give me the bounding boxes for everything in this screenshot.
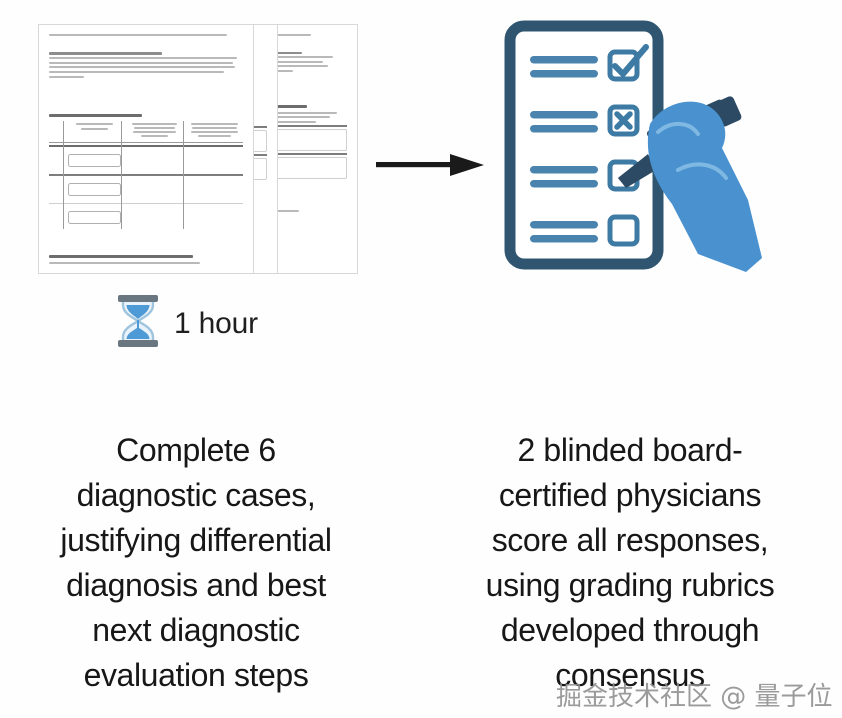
caption-line: Complete 6	[6, 428, 386, 473]
right-step-caption: 2 blinded board- certified physicians sc…	[424, 428, 836, 698]
scoring-clipboard	[500, 18, 790, 278]
caption-line: justifying differential	[6, 518, 386, 563]
caption-line: certified physicians	[424, 473, 836, 518]
flow-arrow	[376, 152, 486, 178]
hourglass-icon	[112, 292, 164, 355]
caption-line: developed through	[424, 608, 836, 653]
left-step-caption: Complete 6 diagnostic cases, justifying …	[6, 428, 386, 698]
case-table	[49, 121, 243, 229]
caption-line: diagnosis and best	[6, 563, 386, 608]
case-document-front	[38, 24, 254, 274]
clinical-case-documents	[38, 24, 358, 274]
caption-line: diagnostic cases,	[6, 473, 386, 518]
timer-row: 1 hour	[112, 292, 258, 355]
caption-line: next diagnostic	[6, 608, 386, 653]
caption-line: score all responses,	[424, 518, 836, 563]
figure-canvas: 1 hour Complete 6 diagnostic cases, just…	[0, 0, 842, 718]
caption-line: evaluation steps	[6, 653, 386, 698]
timer-label: 1 hour	[174, 307, 258, 341]
hand-icon	[648, 102, 762, 272]
caption-line: 2 blinded board-	[424, 428, 836, 473]
caption-line: using grading rubrics	[424, 563, 836, 608]
watermark: 掘金技术社区 @ 量子位	[556, 676, 833, 713]
